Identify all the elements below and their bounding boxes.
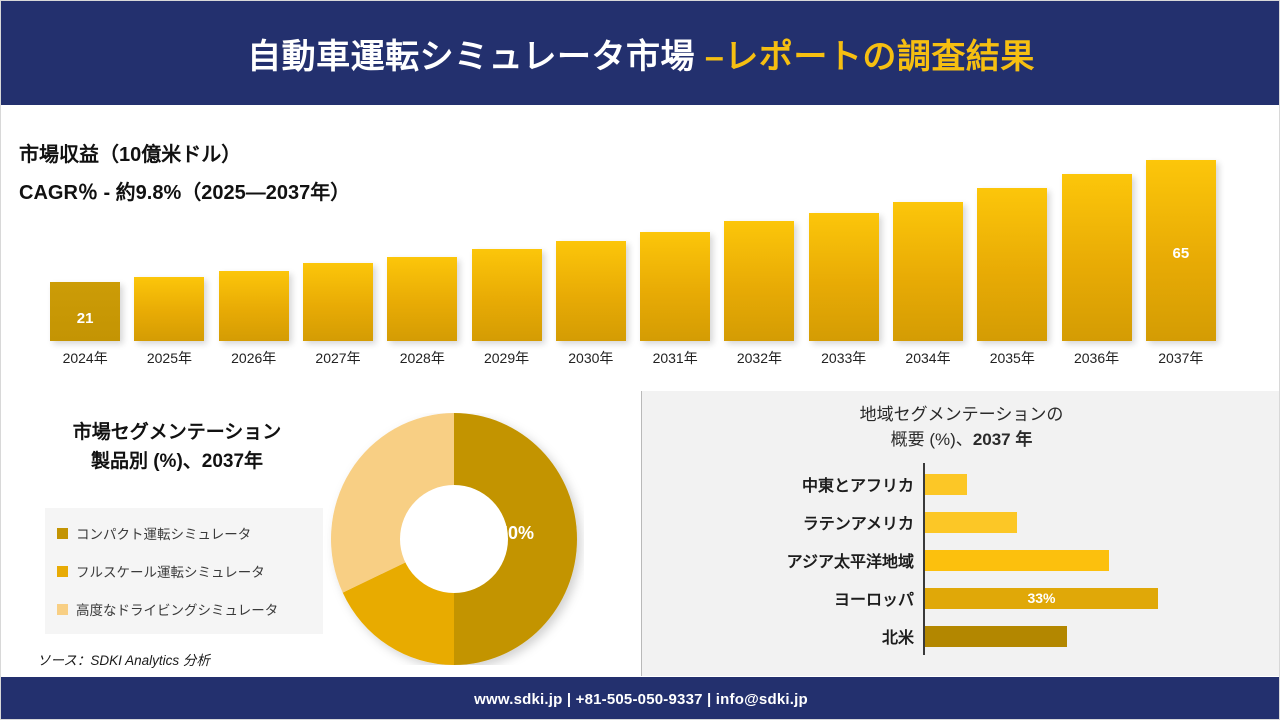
legend-item[interactable]: コンパクト運転シミュレータ [45, 514, 323, 552]
region-row: ラテンアメリカ [642, 503, 1280, 541]
region-label-0: 中東とアフリカ [642, 472, 914, 496]
bar-2025年 [134, 277, 204, 341]
region-bar-北米 [925, 626, 1067, 647]
bar-column [134, 277, 204, 341]
donut-hole [400, 485, 508, 593]
region-row: 北米 [642, 617, 1280, 655]
source-note: ソース：SDKI Analytics 分析 [37, 649, 210, 669]
legend-item[interactable]: フルスケール運転シミュレータ [45, 552, 323, 590]
page-title: 自動車運転シミュレータ市場 –レポートの調査結果 [247, 29, 1035, 78]
bar-column: 65 [1146, 160, 1216, 341]
region-plot-area: 中東とアフリカラテンアメリカアジア太平洋地域ヨーロッパ33%北米 [642, 463, 1280, 663]
bar-category-label: 2031年 [630, 348, 720, 368]
region-label-3: ヨーロッパ [642, 586, 914, 610]
bar-column [472, 249, 542, 341]
legend-item[interactable]: 高度なドライビングシミュレータ [45, 590, 323, 628]
bar-column [893, 202, 963, 341]
legend-item-label: フルスケール運転シミュレータ [76, 561, 265, 581]
bar-category-label: 2030年 [546, 348, 636, 368]
bar-category-label: 2034年 [883, 348, 973, 368]
donut-title-line2: 製品別 (%)、2037年 [17, 448, 337, 477]
bar-column [303, 263, 373, 341]
footer-contact: www.sdki.jp | +81-505-050-9337 | info@sd… [474, 691, 808, 708]
bar-2034年 [893, 202, 963, 341]
bar-column [724, 221, 794, 341]
legend-swatch-icon [57, 604, 68, 615]
bar-category-label: 2025年 [124, 348, 214, 368]
region-title-line1: 地域セグメンテーションの [642, 403, 1280, 428]
region-bar-value-label: 33% [925, 588, 1158, 609]
infographic-page: 自動車運転シミュレータ市場 –レポートの調査結果 市場収益（10億米ドル） CA… [0, 0, 1280, 720]
bar-value-label: 65 [1146, 245, 1216, 262]
region-row: アジア太平洋地域 [642, 541, 1280, 579]
donut-chart-title: 市場セグメンテーション 製品別 (%)、2037年 [17, 419, 337, 476]
page-footer: www.sdki.jp | +81-505-050-9337 | info@sd… [1, 677, 1280, 720]
page-header: 自動車運転シミュレータ市場 –レポートの調査結果 [1, 1, 1280, 105]
region-label-4: 北米 [642, 624, 914, 648]
bar-category-label: 2037年 [1136, 348, 1226, 368]
legend-swatch-icon [57, 528, 68, 539]
bar-2037年: 65 [1146, 160, 1216, 341]
region-bar-ヨーロッパ: 33% [925, 588, 1158, 609]
legend-item-label: 高度なドライビングシミュレータ [76, 599, 278, 619]
bar-column: 21 [50, 282, 120, 341]
page-title-main: 自動車運転シミュレータ市場 [247, 38, 705, 76]
bar-column [1062, 174, 1132, 341]
bar-column [809, 213, 879, 341]
bar-2028年 [387, 257, 457, 341]
bar-value-label: 21 [50, 310, 120, 327]
bar-column [387, 257, 457, 341]
bar-2035年 [977, 188, 1047, 341]
product-segmentation-panel: 市場セグメンテーション 製品別 (%)、2037年 コンパクト運転シミュレータフ… [1, 391, 642, 676]
bar-column [219, 271, 289, 341]
region-title-year: 2037 年 [973, 430, 1033, 449]
region-chart-title: 地域セグメンテーションの 概要 (%)、2037 年 [642, 403, 1280, 452]
bar-2033年 [809, 213, 879, 341]
bar-category-label: 2028年 [377, 348, 467, 368]
region-label-1: ラテンアメリカ [642, 510, 914, 534]
bar-2036年 [1062, 174, 1132, 341]
bar-2029年 [472, 249, 542, 341]
bar-plot-area: 212024年2025年2026年2027年2028年2029年2030年203… [43, 126, 1223, 341]
donut-legend: コンパクト運転シミュレータフルスケール運転シミュレータ高度なドライビングシミュレ… [45, 508, 323, 634]
region-bar-アジア太平洋地域 [925, 550, 1109, 571]
bar-category-label: 2033年 [799, 348, 889, 368]
region-label-2: アジア太平洋地域 [642, 548, 914, 572]
region-bar-中東とアフリカ [925, 474, 967, 495]
bar-column [977, 188, 1047, 341]
donut-center-value: 50% [498, 523, 534, 544]
regional-segmentation-panel: 地域セグメンテーションの 概要 (%)、2037 年 中東とアフリカラテンアメリ… [642, 391, 1280, 676]
market-revenue-section: 市場収益（10億米ドル） CAGR％ - 約9.8%（2025―2037年） 2… [1, 106, 1280, 392]
legend-item-label: コンパクト運転シミュレータ [76, 523, 251, 543]
region-bar-ラテンアメリカ [925, 512, 1017, 533]
legend-swatch-icon [57, 566, 68, 577]
bar-2026年 [219, 271, 289, 341]
bar-column [556, 241, 626, 341]
region-title-line2-prefix: 概要 (%)、 [891, 430, 973, 449]
region-row: 中東とアフリカ [642, 465, 1280, 503]
region-title-line2: 概要 (%)、2037 年 [642, 428, 1280, 453]
donut-chart: 50% [324, 413, 584, 665]
bar-category-label: 2029年 [462, 348, 552, 368]
bar-2032年 [724, 221, 794, 341]
bar-column [640, 232, 710, 341]
region-row: ヨーロッパ33% [642, 579, 1280, 617]
bar-category-label: 2024年 [40, 348, 130, 368]
bar-category-label: 2036年 [1052, 348, 1142, 368]
bar-category-label: 2032年 [714, 348, 804, 368]
bar-category-label: 2027年 [293, 348, 383, 368]
bar-2030年 [556, 241, 626, 341]
market-revenue-bar-chart: 212024年2025年2026年2027年2028年2029年2030年203… [43, 126, 1223, 384]
bar-2027年 [303, 263, 373, 341]
page-title-accent: –レポートの調査結果 [705, 38, 1035, 76]
bar-category-label: 2026年 [209, 348, 299, 368]
bar-category-label: 2035年 [967, 348, 1057, 368]
donut-svg [324, 413, 584, 665]
donut-title-line1: 市場セグメンテーション [17, 419, 337, 448]
bar-2024年: 21 [50, 282, 120, 341]
bar-2031年 [640, 232, 710, 341]
